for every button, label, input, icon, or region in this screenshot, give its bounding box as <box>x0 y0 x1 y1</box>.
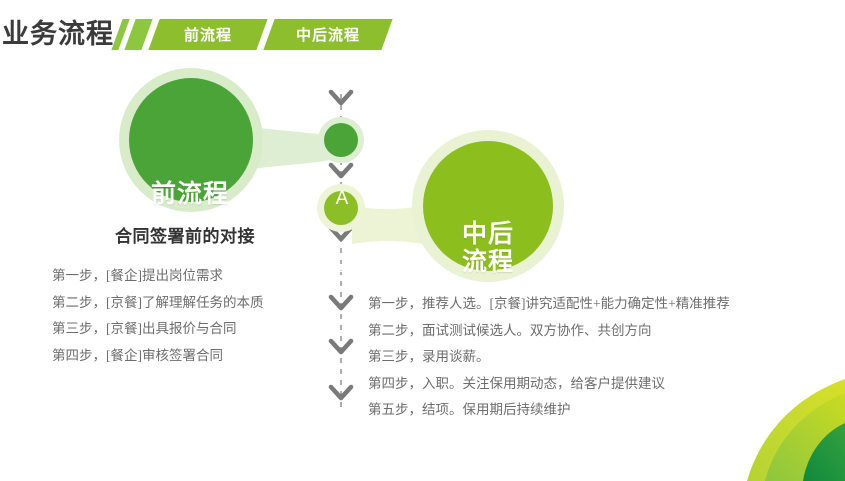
slash-accent-icon <box>124 19 152 50</box>
page-title: 业务流程 <box>0 21 114 48</box>
mid-node-label: 中后 流程 <box>423 220 553 276</box>
front-node-label: 前流程 <box>120 180 260 208</box>
list-item: 第三步，录用谈薪。 <box>368 350 828 377</box>
list-item: 第一步，[餐企]提出岗位需求 <box>40 269 330 296</box>
step-a-circle[interactable] <box>324 123 358 157</box>
right-step-list: 第一步，推荐人选。[京餐]讲究适配性+能力确定性+精准推荐 第二步，面试测试候选… <box>368 297 828 430</box>
tab-mid[interactable]: 中后流程 <box>263 19 392 50</box>
step-a-letter: A <box>322 188 362 210</box>
left-text-block: 合同签署前的对接 第一步，[餐企]提出岗位需求 第二步，[京餐]了解理解任务的本… <box>40 222 330 375</box>
chevron-down-icon <box>331 297 351 308</box>
list-item: 第四步，入职。关注保用期动态，给客户提供建议 <box>368 377 828 404</box>
chevron-down-icon <box>331 341 351 352</box>
list-item: 第一步，推荐人选。[京餐]讲究适配性+能力确定性+精准推荐 <box>368 297 828 324</box>
list-item: 第五步，结项。保用期后持续维护 <box>368 403 828 430</box>
header: 业务流程 前流程 中后流程 <box>0 14 387 54</box>
tab-front[interactable]: 前流程 <box>148 19 267 50</box>
slide-canvas: 业务流程 前流程 中后流程 <box>0 0 845 481</box>
left-block-heading: 合同签署前的对接 <box>40 222 330 247</box>
list-item: 第四步，[餐企]审核签署合同 <box>40 349 330 376</box>
tab-mid-label: 中后流程 <box>296 24 360 45</box>
chevron-down-icon <box>331 165 351 176</box>
left-step-list: 第一步，[餐企]提出岗位需求 第二步，[京餐]了解理解任务的本质 第三步，[京餐… <box>40 269 330 375</box>
list-item: 第三步，[京餐]出具报价与合同 <box>40 322 330 349</box>
tab-front-label: 前流程 <box>184 24 232 45</box>
list-item: 第二步，[京餐]了解理解任务的本质 <box>40 296 330 323</box>
list-item: 第二步，面试测试候选人。双方协作、共创方向 <box>368 324 828 351</box>
right-text-block: 第一步，推荐人选。[京餐]讲究适配性+能力确定性+精准推荐 第二步，面试测试候选… <box>368 297 828 430</box>
corner-arc-inner <box>803 423 845 481</box>
